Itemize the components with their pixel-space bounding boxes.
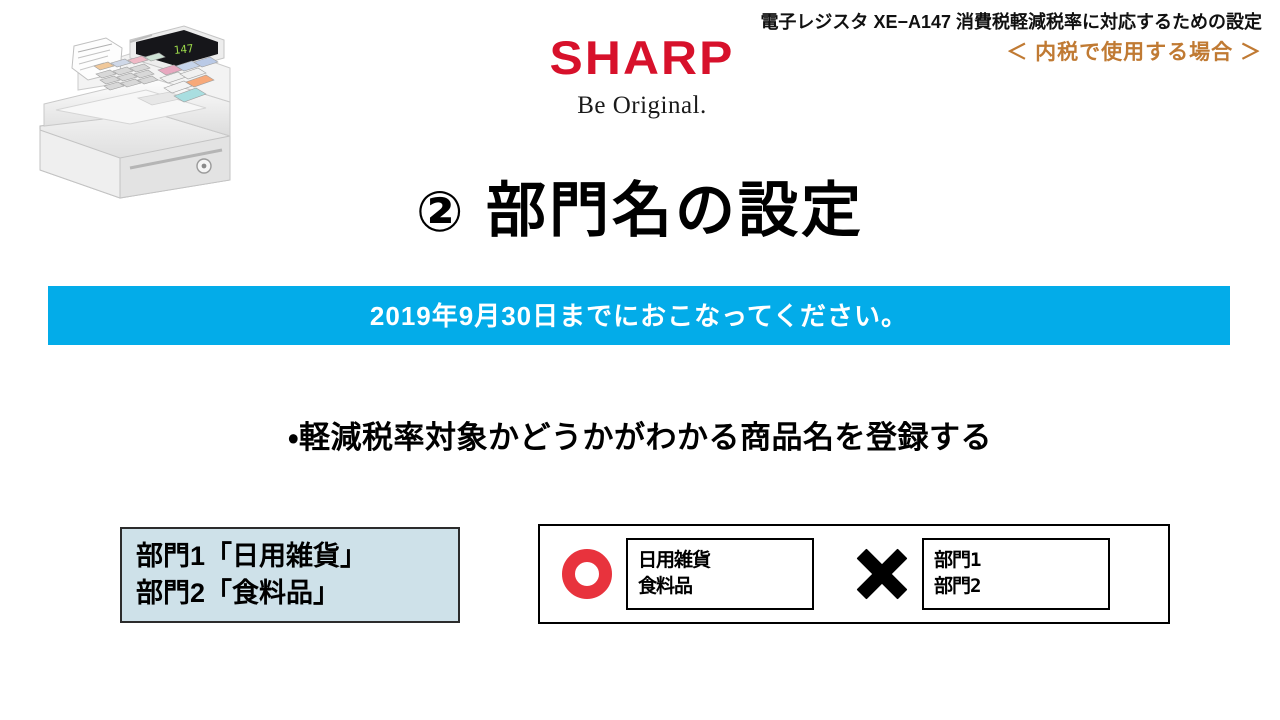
bullet-marker: ・ (288, 420, 299, 455)
page-title-text: 部門名の設定 (486, 177, 864, 244)
bad-receipt-sample: 部門1 部門2 (922, 538, 1110, 610)
good-receipt-line-2: 食料品 (638, 574, 812, 600)
deadline-banner-text: 2019年9月30日までにおこなってください。 (370, 303, 908, 329)
instruction-line: ・軽減税率対象かどうかがわかる商品名を登録する (0, 412, 1280, 457)
cross-ng-icon (856, 548, 908, 600)
header-title-block: 電子レジスタ XE−A147 消費税軽減税率に対応するための設定 ＜ 内税で使用… (742, 12, 1262, 65)
page-title-number: ② (416, 180, 466, 243)
page-title: ② 部門名の設定 (0, 176, 1280, 245)
good-receipt-sample: 日用雑貨 食料品 (626, 538, 814, 610)
department-line-1: 部門1「日用雑貨」 (136, 538, 458, 575)
header-usage-mode-line: ＜ 内税で使用する場合 ＞ (742, 40, 1262, 65)
bad-example-group: 部門1 部門2 (856, 538, 1110, 610)
bad-receipt-line-1: 部門1 (934, 548, 1108, 574)
instruction-text: 軽減税率対象かどうかがわかる商品名を登録する (299, 420, 992, 455)
department-line-2: 部門2「食料品」 (136, 575, 458, 612)
department-name-box: 部門1「日用雑貨」 部門2「食料品」 (120, 527, 460, 623)
example-comparison-box: 日用雑貨 食料品 部門1 部門2 (538, 524, 1170, 624)
deadline-banner: 2019年9月30日までにおこなってください。 (48, 286, 1230, 345)
register-display-value: 147 (173, 42, 194, 57)
brand-block: SHARP Be Original. (524, 34, 760, 118)
header-subject-line: 電子レジスタ XE−A147 消費税軽減税率に対応するための設定 (742, 12, 1262, 34)
good-example-group: 日用雑貨 食料品 (562, 538, 814, 610)
bad-receipt-line-2: 部門2 (934, 574, 1108, 600)
brand-tagline: Be Original. (524, 93, 760, 118)
sharp-logo: SHARP (517, 34, 767, 81)
good-receipt-line-1: 日用雑貨 (638, 548, 812, 574)
circle-ok-icon (562, 549, 612, 599)
